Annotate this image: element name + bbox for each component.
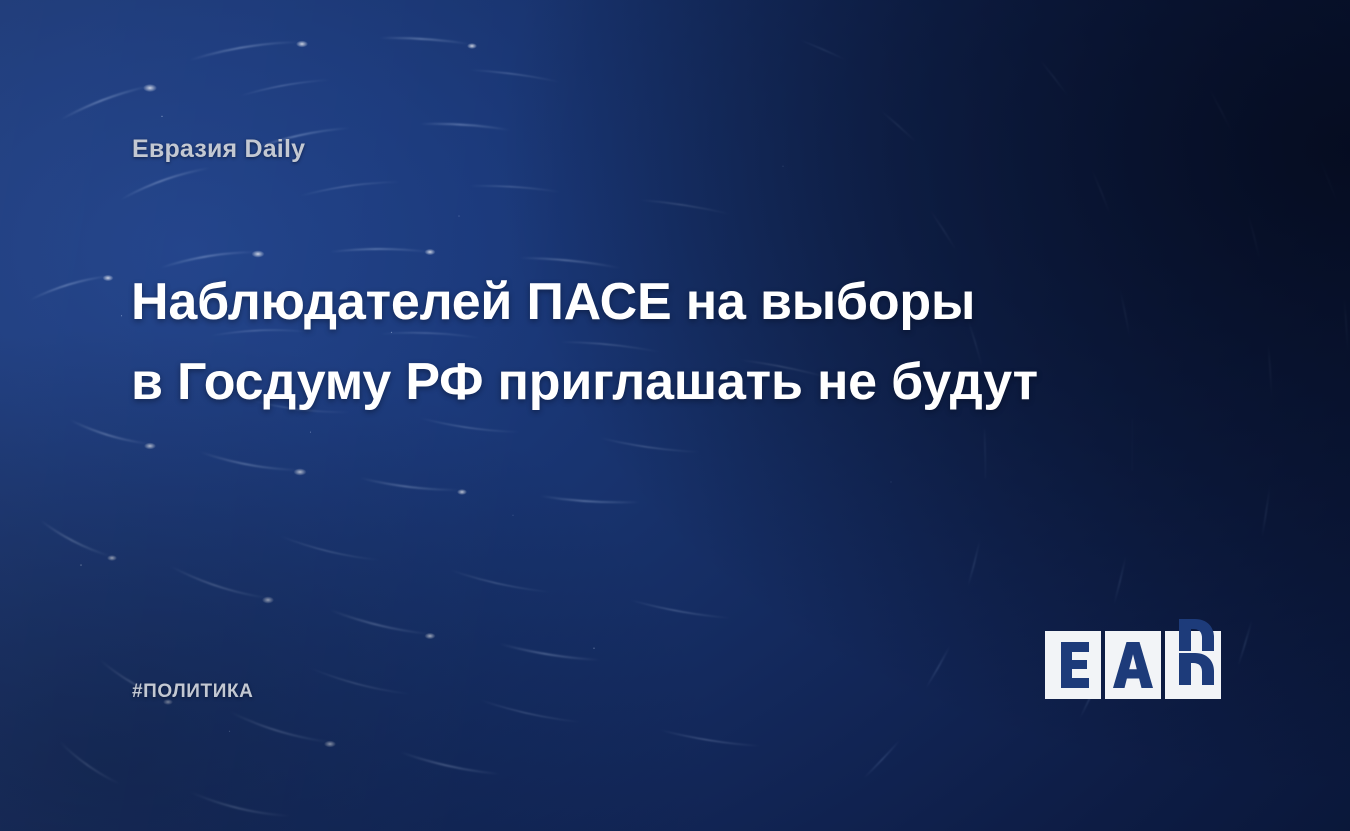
headline-line-1: Наблюдателей ПАСЕ на выборы xyxy=(131,262,1131,342)
logo-tile-d xyxy=(1165,631,1221,699)
ead-logo[interactable] xyxy=(1045,631,1221,699)
category-hashtag[interactable]: #ПОЛИТИКА xyxy=(132,681,254,703)
logo-tile-e xyxy=(1045,631,1101,699)
logo-tile-a xyxy=(1105,631,1161,699)
page-title: Наблюдателей ПАСЕ на выборы в Госдуму РФ… xyxy=(131,262,1131,422)
news-share-card: Евразия Daily Наблюдателей ПАСЕ на выбор… xyxy=(0,0,1350,831)
headline-line-2: в Госдуму РФ приглашать не будут xyxy=(131,342,1131,422)
site-name: Евразия Daily xyxy=(132,135,305,164)
